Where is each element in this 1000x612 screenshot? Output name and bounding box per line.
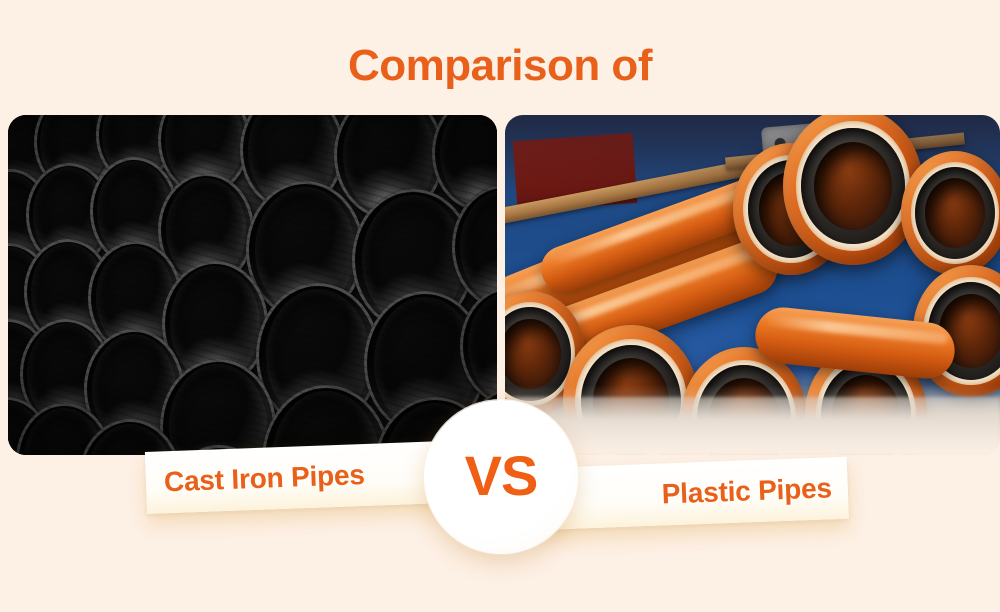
left-label-banner: Cast Iron Pipes (145, 440, 467, 514)
pvc-bottom-haze (505, 385, 1000, 455)
cast-iron-photo-inner (8, 115, 497, 455)
comparison-poster: Comparison of (0, 0, 1000, 612)
plastic-pipes-photo (505, 115, 1000, 455)
socket-bore (925, 178, 986, 247)
vs-label: VS (465, 448, 538, 504)
plastic-photo-inner (505, 115, 1000, 455)
socket-bore (814, 142, 892, 231)
iron-vignette (8, 115, 497, 455)
page-title: Comparison of (0, 41, 1000, 91)
cast-iron-pipes-photo (8, 115, 497, 455)
cast-iron-pipes-label: Cast Iron Pipes (163, 459, 365, 498)
plastic-pipes-label: Plastic Pipes (661, 472, 832, 510)
right-label-banner: Plastic Pipes (539, 457, 849, 530)
vs-badge: VS (424, 400, 578, 554)
pvc-socket (901, 151, 1000, 275)
